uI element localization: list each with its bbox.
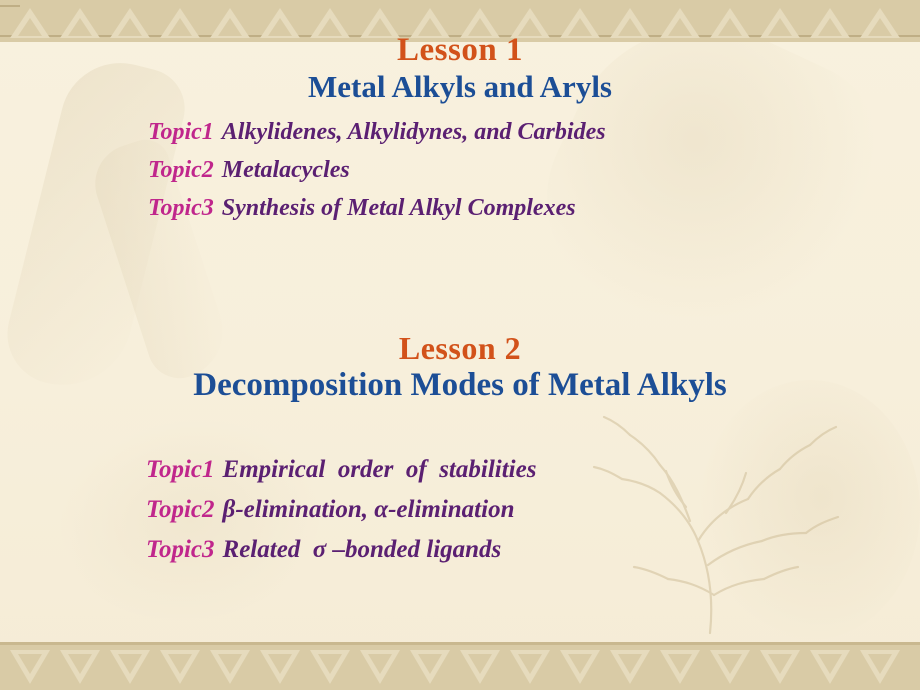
lesson-1-topics: Topic1 Alkylidenes, Alkylidynes, and Car… — [0, 119, 920, 222]
topic-label: Topic2 — [146, 496, 215, 524]
lesson-2-subtitle: Decomposition Modes of Metal Alkyls — [0, 367, 920, 404]
topic-row: Topic3 Synthesis of Metal Alkyl Complexe… — [148, 195, 920, 222]
topic-text: Metalacycles — [222, 157, 350, 184]
lesson-2-topics: Topic1 Empirical order of stabilities To… — [0, 456, 920, 564]
lesson-1-subtitle: Metal Alkyls and Aryls — [0, 69, 920, 105]
lesson-1-title: Lesson 1 — [0, 32, 920, 69]
topic-label: Topic3 — [148, 195, 214, 222]
slide: Lesson 1 Metal Alkyls and Aryls Topic1 A… — [0, 0, 920, 690]
topic-label: Topic2 — [148, 157, 214, 184]
topic-text: β-elimination, α-elimination — [223, 496, 515, 524]
lesson-2-title: Lesson 2 — [0, 330, 920, 367]
topic-row: Topic1 Empirical order of stabilities — [146, 456, 920, 484]
lesson-block-2: Lesson 2 Decomposition Modes of Metal Al… — [0, 330, 920, 576]
topic-row: Topic2 Metalacycles — [148, 157, 920, 184]
lesson-block-1: Lesson 1 Metal Alkyls and Aryls Topic1 A… — [0, 32, 920, 233]
topic-text: Empirical order of stabilities — [223, 456, 537, 484]
topic-row: Topic3 Related σ –bonded ligands — [146, 536, 920, 564]
topic-row: Topic2 β-elimination, α-elimination — [146, 496, 920, 524]
topic-label: Topic1 — [146, 456, 215, 484]
topic-text: Alkylidenes, Alkylidynes, and Carbides — [222, 119, 606, 146]
topic-text: Related σ –bonded ligands — [223, 536, 502, 564]
topic-row: Topic1 Alkylidenes, Alkylidynes, and Car… — [148, 119, 920, 146]
slide-content: Lesson 1 Metal Alkyls and Aryls Topic1 A… — [0, 0, 920, 690]
topic-label: Topic1 — [148, 119, 214, 146]
topic-text: Synthesis of Metal Alkyl Complexes — [222, 195, 576, 222]
topic-label: Topic3 — [146, 536, 215, 564]
